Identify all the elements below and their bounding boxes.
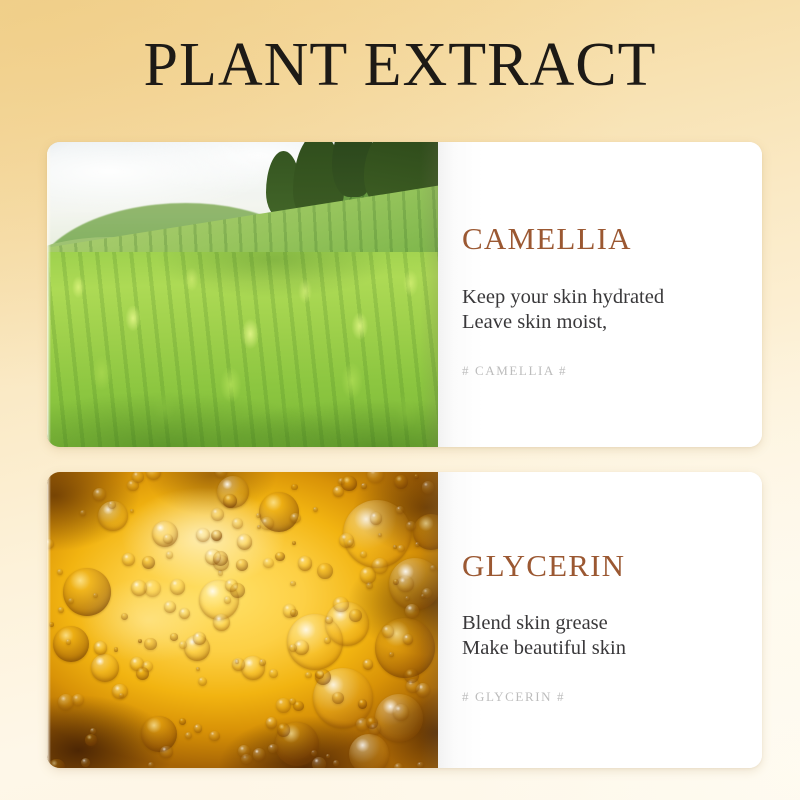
photo-vignette (47, 142, 438, 447)
ingredient-card-glycerin[interactable]: GLYCERIN Blend skin grease Make beautifu… (47, 472, 762, 768)
ingredient-benefits: Keep your skin hydrated Leave skin moist… (462, 285, 664, 335)
benefit-line: Keep your skin hydrated (462, 285, 664, 310)
tea-plantation-photo (47, 142, 438, 447)
ingredient-benefits: Blend skin grease Make beautiful skin (462, 611, 626, 661)
benefit-line: Blend skin grease (462, 611, 626, 636)
photo-vignette (47, 472, 438, 768)
ingredient-hashtag: # CAMELLIA # (462, 363, 567, 379)
ingredient-hashtag: # GLYCERIN # (462, 689, 565, 705)
golden-oil-bubbles-photo (47, 472, 438, 768)
card-text-panel: GLYCERIN Blend skin grease Make beautifu… (438, 472, 762, 768)
ingredient-card-camellia[interactable]: CAMELLIA Keep your skin hydrated Leave s… (47, 142, 762, 447)
ingredient-name: CAMELLIA (462, 221, 632, 257)
ingredient-name: GLYCERIN (462, 548, 625, 584)
benefit-line: Leave skin moist, (462, 310, 664, 335)
card-text-panel: CAMELLIA Keep your skin hydrated Leave s… (438, 142, 762, 447)
page-title: PLANT EXTRACT (0, 34, 800, 96)
benefit-line: Make beautiful skin (462, 636, 626, 661)
